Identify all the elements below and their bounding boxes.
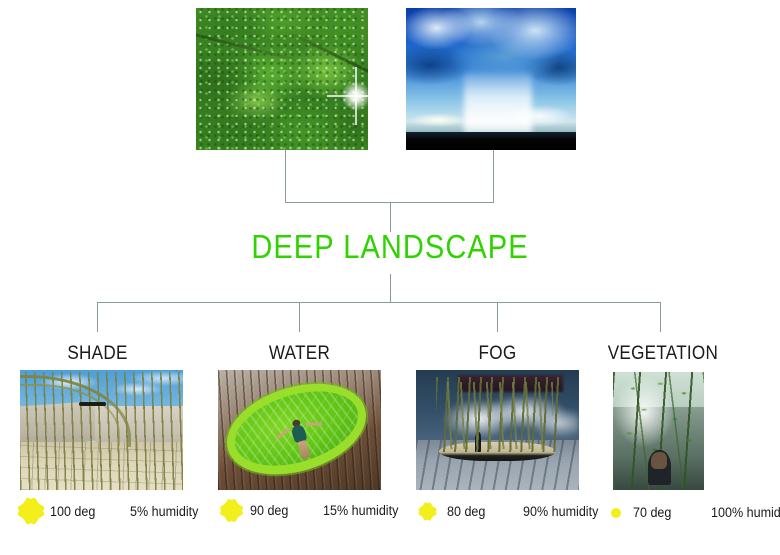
humidity-value-shade: 5% humidity: [130, 504, 198, 519]
water-drop-icon: [498, 500, 515, 523]
legend-row-shade: 100 deg 5% humidity: [20, 500, 203, 522]
connector-top-left-stem: [285, 150, 286, 203]
connector-drop-shade: [97, 302, 98, 332]
forest-canopy-photo: [196, 8, 368, 150]
connector-drop-water: [299, 302, 300, 332]
shade-photo: [20, 370, 183, 490]
storm-glow-right: [505, 105, 573, 128]
connector-drop-vegetation: [660, 302, 661, 332]
temperature-value-shade: 100 deg: [50, 504, 95, 519]
fog-photo: [416, 370, 579, 490]
sun-flare-icon: [339, 79, 368, 113]
storm-glow-left: [409, 113, 467, 127]
category-label-shade: SHADE: [46, 343, 150, 365]
humidity-value-vegetation: 100% humidity: [711, 505, 780, 520]
page-title: DEEP LANDSCAPE: [47, 228, 733, 266]
temperature-value-vegetation: 70 deg: [633, 505, 671, 520]
vegetation-person-face: [651, 452, 666, 469]
humidity-value-water: 15% humidity: [323, 503, 398, 518]
sun-icon: [420, 504, 435, 519]
swimmer-arm: [275, 428, 291, 440]
humidity-value-fog: 90% humidity: [523, 504, 598, 519]
shade-dark-element: [79, 402, 107, 406]
sun-icon: [611, 508, 621, 518]
category-label-fog: FOG: [446, 343, 550, 365]
category-label-water: WATER: [248, 343, 352, 365]
sun-icon: [20, 500, 42, 522]
storm-cloud-photo: [406, 8, 576, 150]
legend-row-vegetation: 70 deg 100% humidity: [611, 500, 780, 525]
water-drop-icon: [684, 500, 703, 525]
storm-horizon: [406, 132, 576, 150]
legend-row-water: 90 deg 15% humidity: [222, 500, 404, 520]
water-drop-icon: [109, 502, 122, 521]
temperature-value-water: 90 deg: [250, 503, 288, 518]
connector-drop-fog: [497, 302, 498, 332]
connector-top-right-stem: [493, 150, 494, 203]
category-label-vegetation: VEGETATION: [608, 343, 712, 365]
vegetation-photo: [613, 372, 704, 490]
diagram-canvas: DEEP LANDSCAPE SHADE WATER FOG VEGETATIO…: [0, 0, 780, 555]
legend-row-fog: 80 deg 90% humidity: [420, 500, 604, 523]
connector-bottom-bar: [97, 302, 661, 303]
water-drop-icon: [301, 500, 315, 520]
sun-icon: [222, 501, 241, 520]
water-photo: [218, 370, 381, 490]
swimmer-arm: [305, 423, 322, 426]
fog-reed-poles: [442, 382, 553, 449]
connector-bottom-center-stem: [390, 274, 391, 303]
swimmer-legs: [297, 440, 311, 460]
temperature-value-fog: 80 deg: [447, 504, 485, 519]
